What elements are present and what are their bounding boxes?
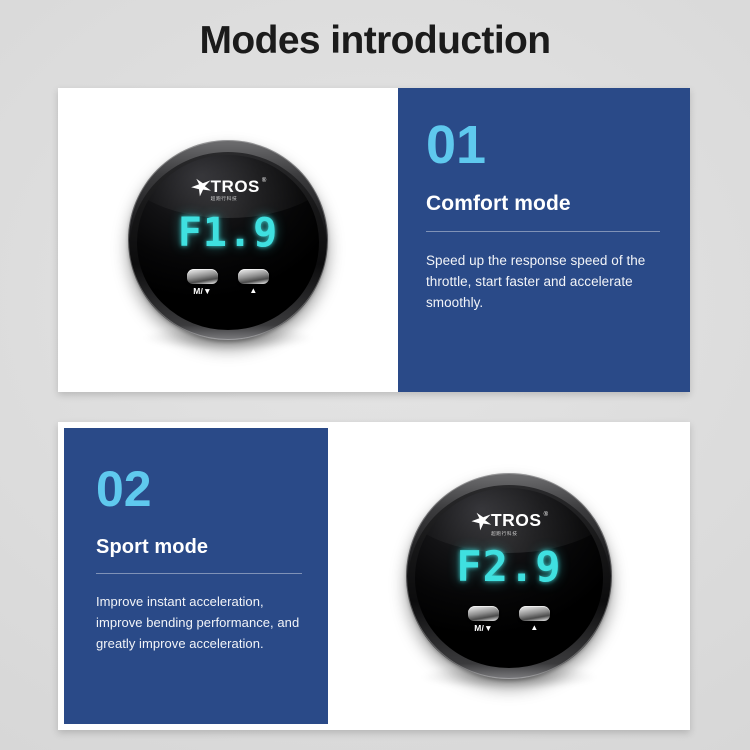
button-cap xyxy=(187,269,218,284)
device-pane-1: TROS ® 超跑行科技 F1.9 M/▼ xyxy=(58,88,398,392)
info-pane-1: 01 Comfort mode Speed up the response sp… xyxy=(398,88,690,392)
brand-name-row: TROS ® xyxy=(211,178,267,195)
star-icon xyxy=(470,512,492,536)
brand-text-block: TROS ® 超跑行科技 xyxy=(491,512,548,537)
mode-up-button-label: ▲ xyxy=(249,287,257,295)
brand-logo-2: TROS ® 超跑行科技 xyxy=(470,512,548,537)
mode-title-1: Comfort mode xyxy=(426,192,660,216)
device-body: TROS ® 超跑行科技 F2.9 M/▼ xyxy=(408,485,610,679)
mode-card-comfort: TROS ® 超跑行科技 F1.9 M/▼ xyxy=(58,88,690,392)
mode-down-button-label: M/▼ xyxy=(474,624,492,633)
info-pane-2: 02 Sport mode Improve instant accelerati… xyxy=(64,428,328,724)
throttle-controller-device-1[interactable]: TROS ® 超跑行科技 F1.9 M/▼ xyxy=(128,140,328,340)
throttle-controller-device-2[interactable]: TROS ® 超跑行科技 F2.9 M/▼ xyxy=(406,473,612,679)
device-glass-face: TROS ® 超跑行科技 F2.9 M/▼ xyxy=(415,488,603,668)
led-display-value-2: F2.9 xyxy=(456,546,561,588)
mode-down-button-2[interactable]: M/▼ xyxy=(468,606,499,633)
device-body: TROS ® 超跑行科技 F1.9 M/▼ xyxy=(130,152,326,340)
mode-description-2: Improve instant acceleration, improve be… xyxy=(96,592,302,654)
button-row-1: M/▼ ▲ xyxy=(187,269,269,296)
mode-title-2: Sport mode xyxy=(96,536,302,559)
led-display-value-1: F1.9 xyxy=(178,213,278,253)
mode-up-button-label: ▲ xyxy=(530,624,538,632)
divider-2 xyxy=(96,573,302,574)
registered-trademark-icon: ® xyxy=(262,178,266,184)
mode-number-1: 01 xyxy=(426,118,660,172)
brand-name-row: TROS ® xyxy=(491,512,548,530)
registered-trademark-icon: ® xyxy=(544,512,548,518)
mode-description-1: Speed up the response speed of the throt… xyxy=(426,251,660,314)
brand-subtitle: 超跑行科技 xyxy=(491,532,518,537)
device-pane-2: TROS ® 超跑行科技 F2.9 M/▼ xyxy=(328,428,690,724)
page-title: Modes introduction xyxy=(0,19,750,63)
brand-logo-1: TROS ® 超跑行科技 xyxy=(190,178,267,203)
mode-up-button-1[interactable]: ▲ xyxy=(238,269,269,296)
mode-card-sport: 02 Sport mode Improve instant accelerati… xyxy=(58,422,690,730)
button-cap xyxy=(468,606,499,621)
mode-down-button-1[interactable]: M/▼ xyxy=(187,269,218,296)
mode-number-2: 02 xyxy=(96,464,302,514)
mode-up-button-2[interactable]: ▲ xyxy=(519,606,550,633)
brand-subtitle: 超跑行科技 xyxy=(211,197,238,202)
brand-name: TROS xyxy=(491,512,542,530)
button-cap xyxy=(238,269,269,284)
button-row-2: M/▼ ▲ xyxy=(468,606,550,633)
button-cap xyxy=(519,606,550,621)
brand-text-block: TROS ® 超跑行科技 xyxy=(211,178,267,203)
brand-name: TROS xyxy=(211,178,260,195)
divider-1 xyxy=(426,231,660,232)
device-glass-face: TROS ® 超跑行科技 F1.9 M/▼ xyxy=(137,155,319,330)
mode-down-button-label: M/▼ xyxy=(193,287,211,296)
star-icon xyxy=(190,178,212,202)
